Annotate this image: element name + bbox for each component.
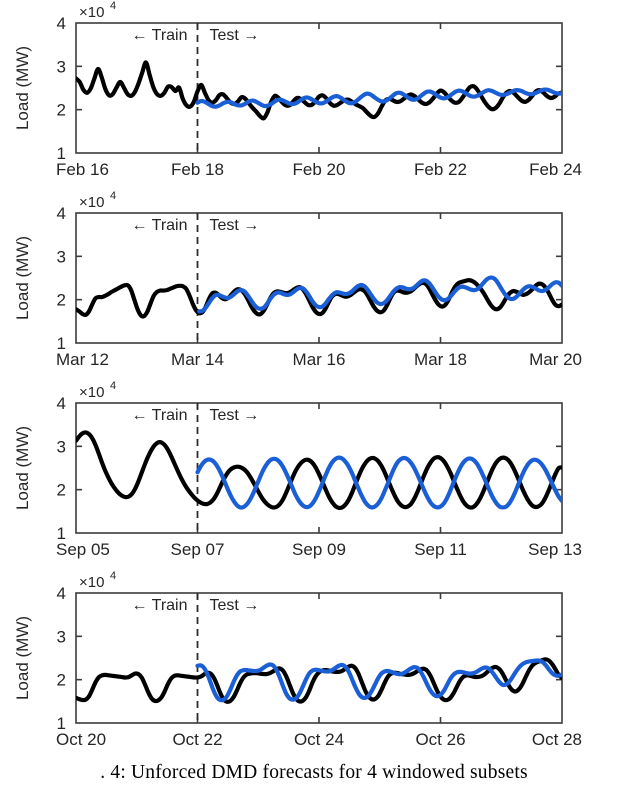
x-axis-tick-label: Mar 12	[56, 350, 109, 369]
y-axis-tick-label: 4	[57, 394, 66, 413]
train-annotation: ← Train	[131, 407, 187, 424]
x-axis-tick-label: Feb 18	[171, 160, 224, 179]
y-axis-tick-label: 3	[57, 57, 66, 76]
y-axis-tick-label: 2	[57, 291, 66, 310]
y-axis-tick-label: 3	[57, 247, 66, 266]
y-axis-tick-label: 2	[57, 101, 66, 120]
x-axis-tick-label: Oct 20	[56, 730, 106, 749]
y-axis-tick-label: 4	[57, 584, 66, 603]
svg-text:4: 4	[110, 0, 116, 12]
train-annotation: ← Train	[131, 597, 187, 614]
x-axis-tick-label: Feb 16	[56, 160, 109, 179]
x-axis-tick-label: Mar 18	[414, 350, 467, 369]
x-axis-tick-label: Mar 16	[293, 350, 346, 369]
x-axis-tick-label: Oct 22	[172, 730, 222, 749]
y-axis-exponent: ×104	[79, 570, 116, 591]
svg-text:4: 4	[110, 380, 116, 392]
svg-text:×10: ×10	[79, 384, 104, 401]
x-axis-tick-label: Oct 24	[294, 730, 344, 749]
x-axis-tick-label: Oct 26	[415, 730, 465, 749]
x-axis-tick-label: Oct 28	[532, 730, 582, 749]
figure-caption: . 4: Unforced DMD forecasts for 4 window…	[0, 762, 628, 784]
y-axis-tick-label: 2	[57, 671, 66, 690]
x-axis-tick-label: Feb 22	[414, 160, 467, 179]
test-annotation: Test →	[210, 217, 260, 234]
y-axis-label: Load (MW)	[13, 236, 32, 320]
x-axis-tick-label: Sep 11	[414, 540, 467, 559]
x-axis-tick-label: Sep 13	[528, 540, 582, 559]
y-axis-tick-label: 3	[57, 627, 66, 646]
svg-text:4: 4	[110, 570, 116, 582]
svg-text:×10: ×10	[79, 194, 104, 211]
y-axis-label: Load (MW)	[13, 426, 32, 510]
svg-text:×10: ×10	[79, 574, 104, 591]
figure-container: 1234×104Load (MW)Feb 16Feb 18Feb 20Feb 2…	[0, 0, 628, 794]
x-axis-tick-label: Mar 14	[171, 350, 224, 369]
chart-panel: 1234×104Load (MW)Oct 20Oct 22Oct 24Oct 2…	[0, 570, 628, 760]
chart-panel: 1234×104Load (MW)Sep 05Sep 07Sep 09Sep 1…	[0, 380, 628, 570]
svg-text:×10: ×10	[79, 4, 104, 21]
train-annotation: ← Train	[131, 27, 187, 44]
y-axis-exponent: ×104	[79, 0, 116, 21]
y-axis-label: Load (MW)	[13, 46, 32, 130]
y-axis-tick-label: 2	[57, 481, 66, 500]
x-axis-tick-label: Mar 20	[529, 350, 582, 369]
y-axis-exponent: ×104	[79, 190, 116, 211]
chart-panel: 1234×104Load (MW)Feb 16Feb 18Feb 20Feb 2…	[0, 0, 628, 190]
test-annotation: Test →	[210, 597, 260, 614]
y-axis-exponent: ×104	[79, 380, 116, 401]
x-axis-tick-label: Sep 05	[56, 540, 110, 559]
y-axis-label: Load (MW)	[13, 616, 32, 700]
x-axis-tick-label: Feb 24	[529, 160, 582, 179]
test-annotation: Test →	[210, 27, 260, 44]
x-axis-tick-label: Sep 07	[171, 540, 225, 559]
test-annotation: Test →	[210, 407, 260, 424]
chart-panel: 1234×104Load (MW)Mar 12Mar 14Mar 16Mar 1…	[0, 190, 628, 380]
y-axis-tick-label: 4	[57, 14, 66, 33]
svg-text:4: 4	[110, 190, 116, 202]
y-axis-tick-label: 3	[57, 437, 66, 456]
train-annotation: ← Train	[131, 217, 187, 234]
x-axis-tick-label: Feb 20	[293, 160, 346, 179]
y-axis-tick-label: 4	[57, 204, 66, 223]
x-axis-tick-label: Sep 09	[292, 540, 346, 559]
